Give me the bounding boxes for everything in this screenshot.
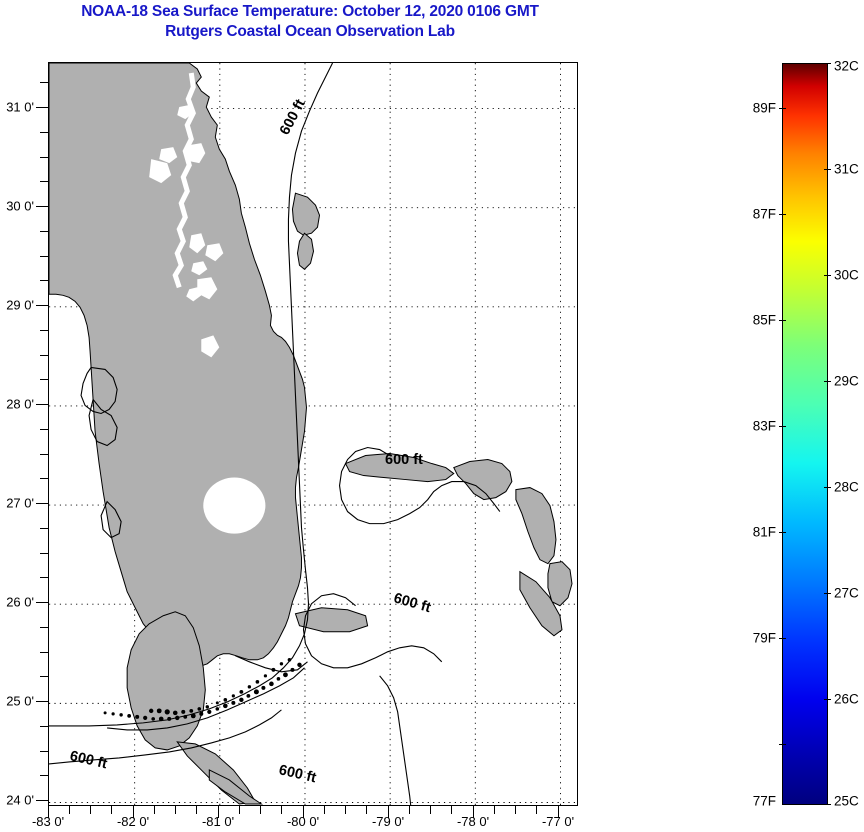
cat-island <box>548 562 572 606</box>
y-tick-minor <box>40 528 48 529</box>
colorbar-tick-f <box>779 108 786 109</box>
y-axis-label: 29 0' <box>0 298 34 313</box>
barrier-island-east <box>297 233 313 269</box>
colorbar-tick-c <box>824 275 831 276</box>
contour-exuma-sound <box>380 676 411 805</box>
lake-kissimmee-2 <box>247 143 261 163</box>
contour-label-600ft: 600 ft <box>385 452 423 468</box>
colorbar-label-c: 30C <box>834 268 859 283</box>
colorbar-label-f: 81F <box>734 525 776 540</box>
x-tick-minor <box>69 806 70 814</box>
y-tick-minor <box>40 280 48 281</box>
x-axis-label: -83 0' <box>32 814 64 829</box>
y-tick-minor <box>40 652 48 653</box>
x-tick-minor <box>366 806 367 814</box>
colorbar-tick-c <box>824 169 831 170</box>
colorbar-tick-c <box>824 699 831 700</box>
colorbar-label-c: 25C <box>834 794 859 809</box>
y-tick-major <box>36 602 48 603</box>
map-graphics <box>49 63 577 805</box>
y-tick-minor <box>40 726 48 727</box>
x-tick-minor <box>175 806 176 814</box>
colorbar-label-f: 87F <box>734 207 776 222</box>
y-tick-major <box>36 305 48 306</box>
x-tick-minor <box>536 806 537 814</box>
y-axis-label: 27 0' <box>0 496 34 511</box>
colorbar-gradient <box>782 63 828 805</box>
x-tick-minor <box>515 806 516 814</box>
andros-island <box>127 612 205 750</box>
colorbar-tick-f <box>779 214 786 215</box>
colorbar-label-c: 31C <box>834 162 859 177</box>
colorbar-label-f: 85F <box>734 313 776 328</box>
y-axis-label: 25 0' <box>0 694 34 709</box>
colorbar-tick-c <box>824 487 831 488</box>
x-tick-minor <box>90 806 91 814</box>
colorbar-tick-f <box>779 744 786 745</box>
y-tick-minor <box>40 478 48 479</box>
y-tick-minor <box>40 330 48 331</box>
colorbar-label-f: 89F <box>734 101 776 116</box>
y-tick-minor <box>40 553 48 554</box>
x-tick-minor <box>430 806 431 814</box>
colorbar[interactable]: 32C 31C 30C 29C 28C 27C 26C 25C 89F 87F … <box>782 63 828 805</box>
cape-canaveral <box>292 193 319 235</box>
eleuthera <box>516 488 556 564</box>
map-plot-area[interactable] <box>48 62 578 806</box>
y-tick-minor <box>40 676 48 677</box>
y-tick-minor <box>40 355 48 356</box>
x-tick-minor <box>281 806 282 814</box>
x-tick-minor <box>324 806 325 814</box>
title-line-2: Rutgers Coastal Ocean Observation Lab <box>0 22 620 42</box>
y-tick-minor <box>40 132 48 133</box>
y-axis-label: 31 0' <box>0 100 34 115</box>
y-axis-label: 26 0' <box>0 595 34 610</box>
y-tick-minor <box>40 157 48 158</box>
colorbar-tick-c <box>824 63 831 64</box>
x-axis-label: -80 0' <box>287 814 319 829</box>
x-axis-label: -77 0' <box>542 814 574 829</box>
x-tick-minor <box>494 806 495 814</box>
y-tick-minor <box>40 577 48 578</box>
chart-title: NOAA-18 Sea Surface Temperature: October… <box>0 2 620 42</box>
x-axis-label: -82 0' <box>117 814 149 829</box>
colorbar-tick-f <box>779 426 786 427</box>
florida-peninsula <box>49 63 306 666</box>
y-tick-minor <box>40 379 48 380</box>
colorbar-tick-c <box>824 381 831 382</box>
colorbar-label-c: 26C <box>834 692 859 707</box>
x-tick-minor <box>409 806 410 814</box>
y-tick-major <box>36 503 48 504</box>
x-tick-minor <box>260 806 261 814</box>
y-tick-major <box>36 206 48 207</box>
x-tick-minor <box>239 806 240 814</box>
new-providence <box>295 608 367 632</box>
colorbar-tick-c <box>824 804 831 805</box>
colorbar-tick-f <box>779 638 786 639</box>
y-tick-minor <box>40 256 48 257</box>
y-tick-minor <box>40 627 48 628</box>
x-tick-minor <box>154 806 155 814</box>
y-tick-major <box>36 701 48 702</box>
y-tick-minor <box>40 82 48 83</box>
lake-okeechobee <box>203 478 265 534</box>
y-tick-minor <box>40 751 48 752</box>
colorbar-label-c: 29C <box>834 374 859 389</box>
colorbar-label-c: 28C <box>834 480 859 495</box>
y-tick-minor <box>40 454 48 455</box>
x-tick-minor <box>451 806 452 814</box>
x-axis-label: -78 0' <box>457 814 489 829</box>
colorbar-label-c: 27C <box>834 586 859 601</box>
y-tick-minor <box>40 181 48 182</box>
y-tick-minor <box>40 775 48 776</box>
y-axis-label: 28 0' <box>0 397 34 412</box>
title-line-1: NOAA-18 Sea Surface Temperature: October… <box>0 2 620 22</box>
colorbar-tick-f <box>779 532 786 533</box>
colorbar-tick-c <box>824 593 831 594</box>
y-tick-minor <box>40 231 48 232</box>
colorbar-label-f: 83F <box>734 419 776 434</box>
y-tick-major <box>36 107 48 108</box>
great-abaco <box>454 460 512 500</box>
x-axis-label: -81 0' <box>202 814 234 829</box>
colorbar-tick-f <box>779 320 786 321</box>
colorbar-label-f: 79F <box>734 631 776 646</box>
y-axis-label: 30 0' <box>0 199 34 214</box>
x-tick-minor <box>345 806 346 814</box>
x-axis-label: -79 0' <box>372 814 404 829</box>
y-tick-major <box>36 404 48 405</box>
x-tick-minor <box>196 806 197 814</box>
y-tick-minor <box>40 429 48 430</box>
y-tick-major <box>36 800 48 801</box>
colorbar-label-c: 32C <box>834 59 859 74</box>
lake-kissimmee-1 <box>225 137 245 159</box>
y-axis-label: 24 0' <box>0 793 34 808</box>
x-tick-minor <box>111 806 112 814</box>
colorbar-label-f: 77F <box>734 794 776 809</box>
